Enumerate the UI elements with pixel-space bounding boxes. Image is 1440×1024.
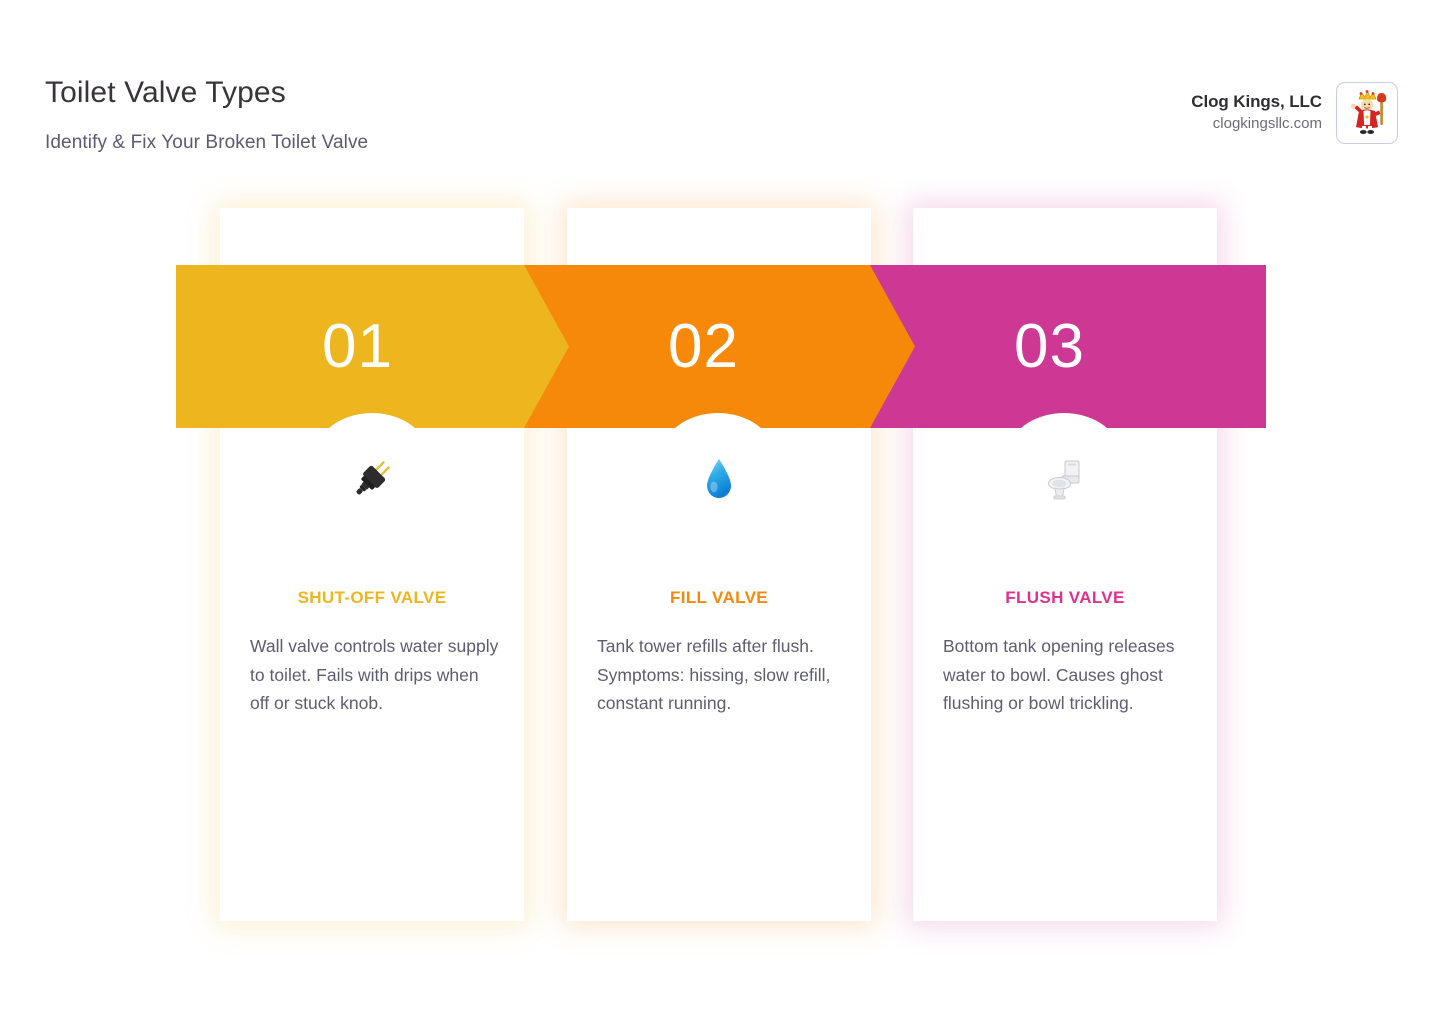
step-number-1: 01 <box>176 265 539 428</box>
step-title-3: FLUSH VALVE <box>913 588 1217 608</box>
electric-plug-icon <box>220 448 524 510</box>
step-body-1: Wall valve controls water supply to toil… <box>250 632 502 718</box>
step-number-3: 03 <box>868 265 1231 428</box>
steps-container: SHUT-OFF VALVE Wall valve controls water… <box>0 0 1440 1024</box>
step-title-2: FILL VALVE <box>567 588 871 608</box>
infographic-page: Toilet Valve Types Identify & Fix Your B… <box>0 0 1440 1024</box>
step-body-3: Bottom tank opening releases water to bo… <box>943 632 1211 718</box>
step-body-2: Tank tower refills after flush. Symptoms… <box>597 632 849 718</box>
water-droplet-icon <box>567 448 871 510</box>
step-number-2: 02 <box>522 265 885 428</box>
toilet-icon <box>913 448 1217 510</box>
chevron-banner: 01 02 03 <box>176 265 1266 428</box>
step-title-1: SHUT-OFF VALVE <box>220 588 524 608</box>
